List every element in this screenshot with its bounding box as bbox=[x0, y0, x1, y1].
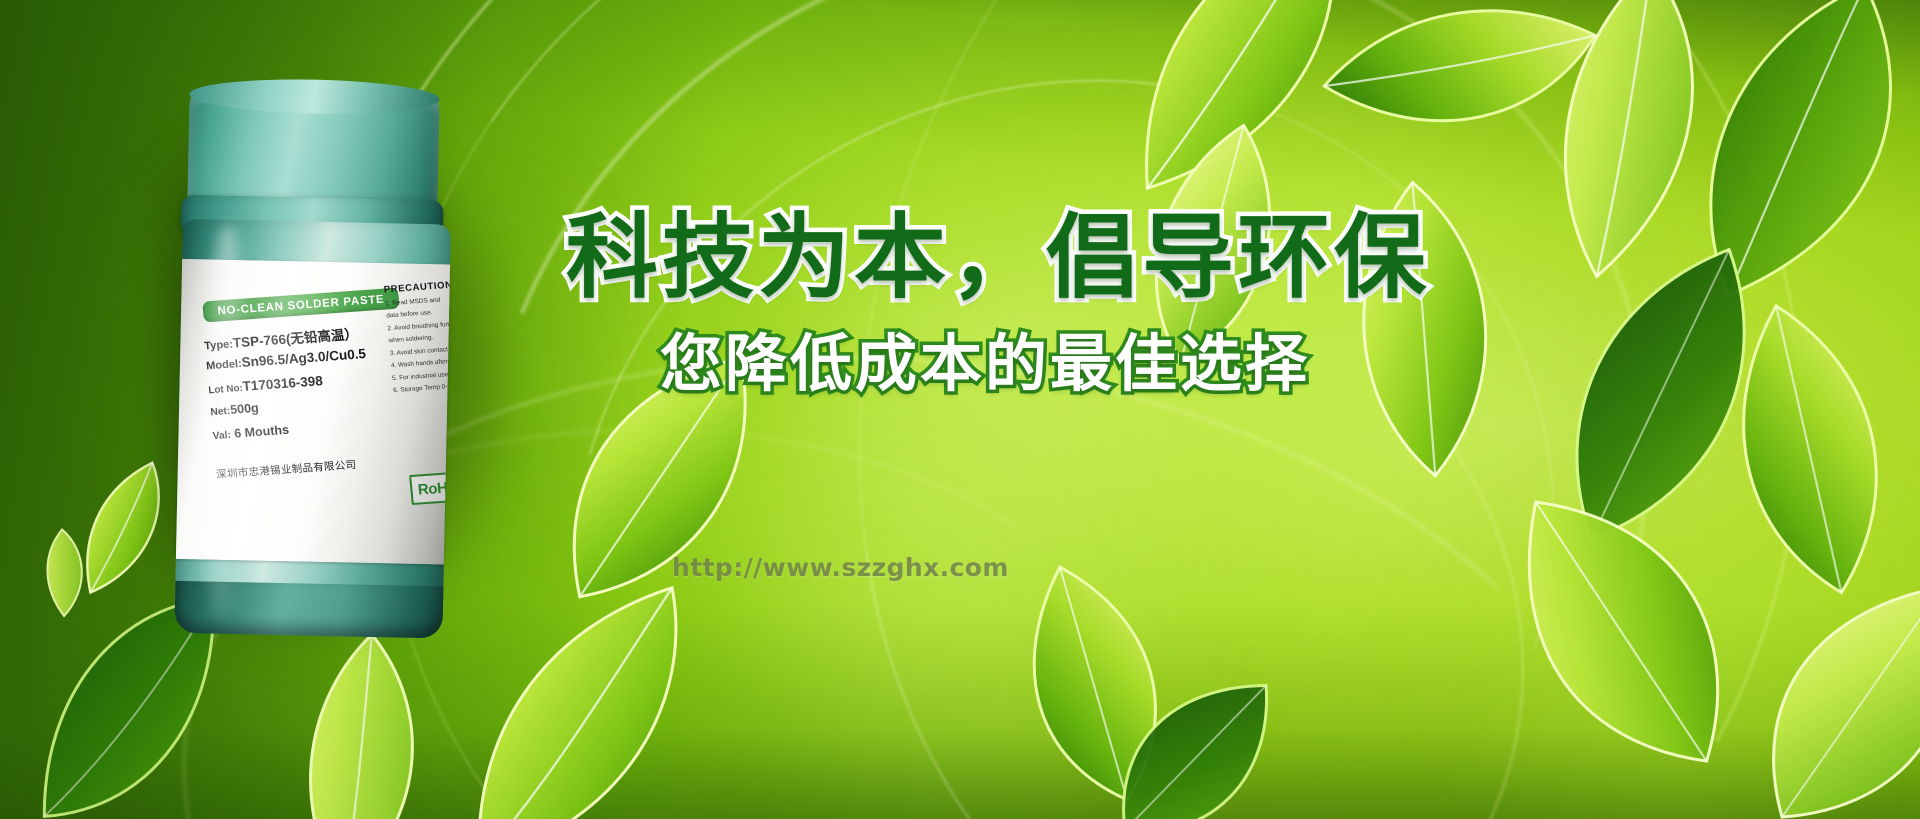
product-label-content: NO-CLEAN SOLDER PASTE Type:TSP-766(无铅高温）… bbox=[182, 259, 450, 558]
label-lot-key: Lot No: bbox=[208, 383, 243, 396]
label-type-key: Type: bbox=[204, 339, 234, 353]
banner-subheadline: 您降低成本的最佳选择 bbox=[660, 330, 1310, 398]
label-model-key: Model: bbox=[206, 358, 243, 372]
label-net-value: 500g bbox=[230, 401, 260, 417]
label-product-badge: NO-CLEAN SOLDER PASTE bbox=[202, 288, 399, 323]
label-val-key: Val: bbox=[212, 430, 231, 442]
label-net-key: Net: bbox=[210, 406, 231, 418]
label-val-value: 6 Mouths bbox=[234, 423, 290, 441]
label-val-line: Val: 6 Mouths bbox=[212, 423, 290, 442]
label-lot-value: T170316-398 bbox=[242, 373, 324, 394]
product-label: NO-CLEAN SOLDER PASTE Type:TSP-766(无铅高温）… bbox=[176, 259, 450, 565]
website-url[interactable]: http://www.szzghx.com bbox=[672, 553, 1009, 582]
product-image: NO-CLEAN SOLDER PASTE Type:TSP-766(无铅高温）… bbox=[152, 86, 512, 646]
precaution-title: PRECAUTION bbox=[383, 278, 450, 295]
label-precaution-block: PRECAUTION 1. Read MSDS and data before … bbox=[383, 278, 450, 398]
rohs-badge-icon: RoHS bbox=[409, 471, 450, 505]
solder-paste-jar: NO-CLEAN SOLDER PASTE Type:TSP-766(无铅高温）… bbox=[172, 83, 484, 645]
jar-body-bottom bbox=[174, 581, 443, 639]
label-company-name: 深圳市忠港锡业制品有限公司 bbox=[216, 457, 357, 482]
promo-banner: NO-CLEAN SOLDER PASTE Type:TSP-766(无铅高温）… bbox=[0, 0, 1920, 819]
label-model-value: Sn96.5/Ag3.0/Cu0.5 bbox=[241, 346, 367, 370]
label-lot-line: Lot No:T170316-398 bbox=[208, 373, 324, 396]
banner-headline: 科技为本，倡导环保 bbox=[566, 208, 1430, 307]
label-net-line: Net:500g bbox=[210, 401, 260, 418]
